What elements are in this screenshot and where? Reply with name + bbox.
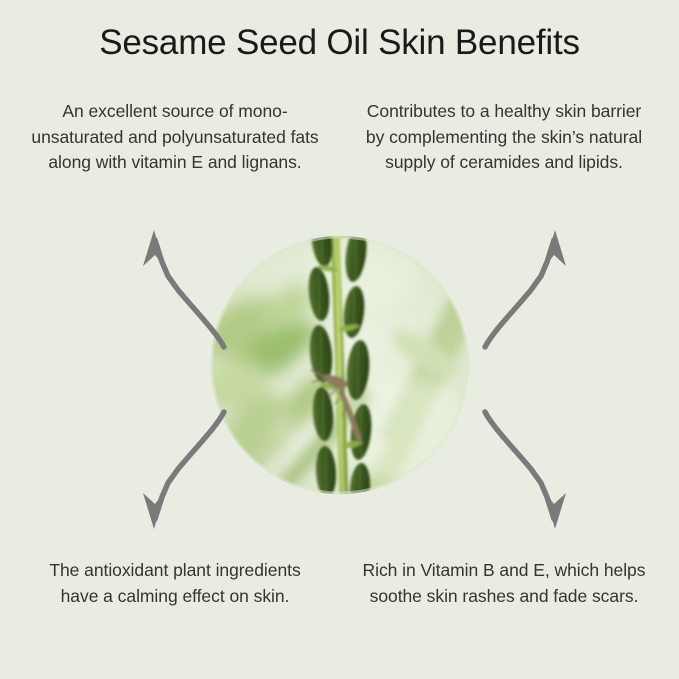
benefit-text-bottom-left: The antioxidant plant ingredients have a… (30, 558, 320, 609)
sesame-plant-illustration (211, 236, 469, 494)
infographic-canvas: Sesame Seed Oil Skin Benefits An excelle… (0, 0, 679, 679)
benefit-text-top-left: An excellent source of mono-unsaturated … (30, 99, 320, 176)
curved-arrow-icon-bottom-left (128, 403, 236, 531)
benefit-text-top-right: Contributes to a healthy skin barrier by… (359, 99, 649, 176)
benefit-text-bottom-right: Rich in Vitamin B and E, which helps soo… (359, 558, 649, 609)
curved-arrow-icon-top-left (128, 228, 236, 348)
curved-arrow-icon-bottom-right (473, 403, 581, 531)
sesame-plant-photo (211, 236, 469, 494)
page-title: Sesame Seed Oil Skin Benefits (0, 22, 679, 64)
curved-arrow-icon-top-right (473, 228, 581, 348)
